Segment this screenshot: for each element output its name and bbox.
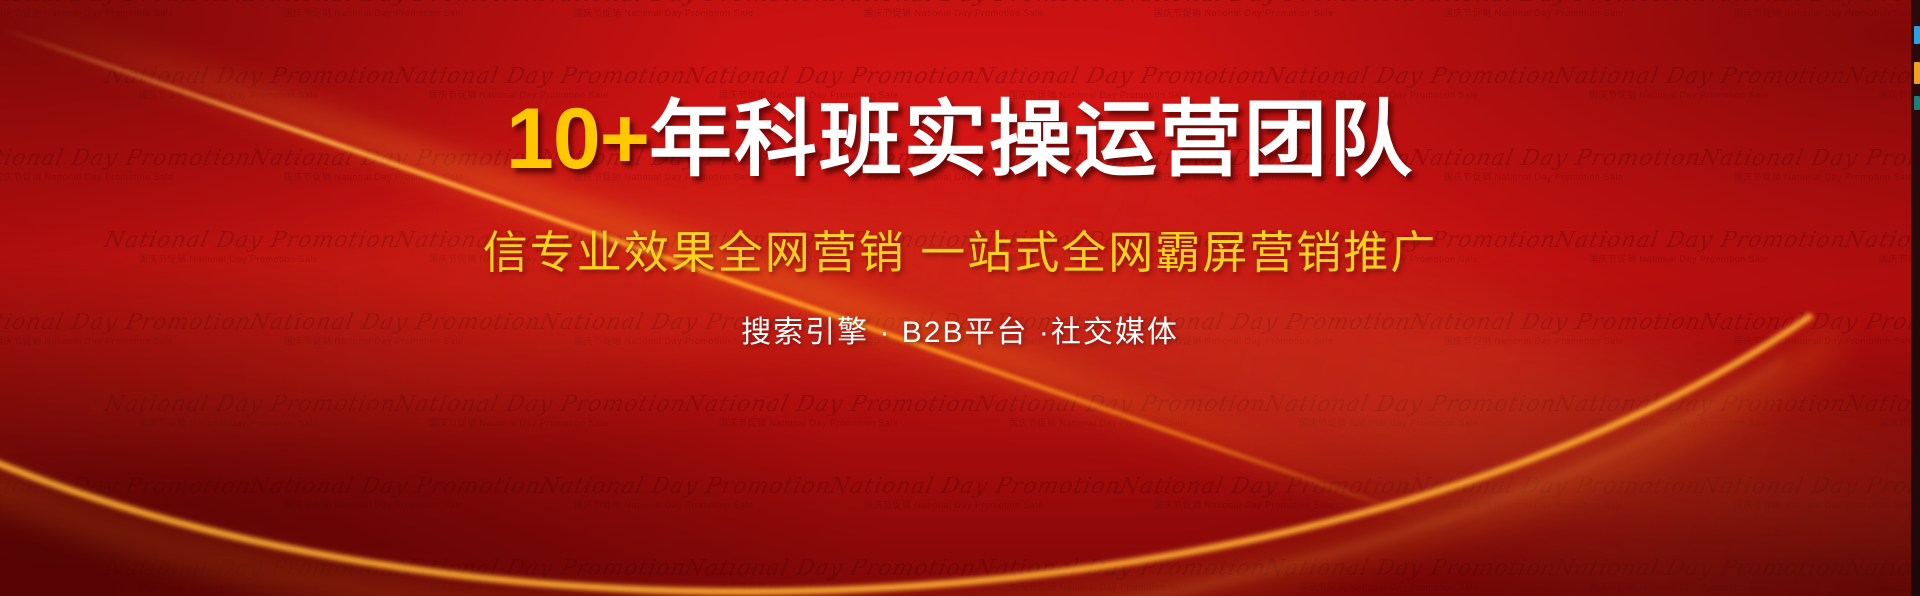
watermark-tile: National Day Promotion国庆节促销 National Day… (250, 311, 540, 347)
watermark-sub-text: 国庆节促销 National Day Promotion Sale (1555, 255, 1845, 264)
watermark-main-text: National Day Promotion (103, 393, 398, 416)
watermark-tile: National Day Promotion国庆节促销 National Day… (1700, 0, 1920, 19)
headline-text: 年科班实操运营团队 (649, 93, 1414, 186)
watermark-main-text: National Day Promotion (828, 0, 1123, 6)
watermark-tile: National Day Promotion国庆节促销 National Day… (105, 393, 395, 429)
watermark-main-text: National Day Promotion (1408, 475, 1703, 498)
watermark-main-text: National Day Promotion (1118, 0, 1413, 6)
watermark-main-text: National Day Promotion (1263, 393, 1558, 416)
watermark-main-text: National Day Promotion (0, 475, 252, 498)
watermark-tile: National Day Promotion国庆节促销 National Day… (1555, 393, 1845, 429)
watermark-sub-text: 国庆节促销 National Day Promotion Sale (685, 583, 975, 592)
watermark-sub-text: 国庆节促销 National Day Promotion Sale (540, 9, 830, 18)
orange-chip-icon (1914, 62, 1920, 84)
light-sheen-upper (366, 121, 1920, 593)
watermark-sub-text: 国庆节促销 National Day Promotion Sale (395, 419, 685, 428)
watermark-sub-text: 国庆节促销 National Day Promotion Sale (1265, 419, 1555, 428)
watermark-main-text: National Day Promotion (1408, 311, 1703, 334)
watermark-sub-text: 国庆节促销 National Day Promotion Sale (1265, 583, 1555, 592)
watermark-row: National Day Promotion国庆节促销 National Day… (0, 370, 1920, 452)
watermark-sub-text: 国庆节促销 National Day Promotion Sale (395, 583, 685, 592)
watermark-tile: National Day Promotion国庆节促销 National Day… (1845, 229, 1920, 265)
watermark-sub-text: 国庆节促销 National Day Promotion Sale (1845, 583, 1920, 592)
watermark-main-text: National Day Promotion (683, 557, 978, 580)
watermark-tile: National Day Promotion国庆节促销 National Day… (105, 557, 395, 593)
watermark-tile: National Day Promotion国庆节促销 National Day… (1845, 393, 1920, 429)
watermark-main-text: National Day Promotion (1263, 557, 1558, 580)
watermark-row: National Day Promotion国庆节促销 National Day… (0, 534, 1920, 596)
watermark-tile: National Day Promotion国庆节促销 National Day… (0, 311, 250, 347)
watermark-sub-text: 国庆节促销 National Day Promotion Sale (830, 9, 1120, 18)
watermark-main-text: National Day Promotion (393, 557, 688, 580)
watermark-main-text: National Day Promotion (683, 65, 978, 88)
watermark-tile: National Day Promotion国庆节促销 National Day… (830, 475, 1120, 511)
watermark-main-text: National Day Promotion (1698, 147, 1920, 170)
watermark-row: National Day Promotion国庆节促销 National Day… (0, 0, 1920, 42)
banner-headline: 10+年科班实操运营团队 (506, 96, 1414, 182)
arc-streak-glow (0, 0, 1920, 596)
watermark-sub-text: 国庆节促销 National Day Promotion Sale (250, 501, 540, 510)
banner-subtitle: 信专业效果全网营销 一站式全网霸屏营销推广 (483, 216, 1438, 281)
watermark-main-text: National Day Promotion (973, 557, 1268, 580)
watermark-main-text: National Day Promotion (393, 393, 688, 416)
watermark-tile: National Day Promotion国庆节促销 National Day… (1845, 557, 1920, 593)
blue-chip-icon (1914, 26, 1920, 44)
watermark-main-text: National Day Promotion (538, 475, 833, 498)
watermark-sub-text: 国庆节促销 National Day Promotion Sale (1700, 337, 1920, 346)
watermark-tile: National Day Promotion国庆节促销 National Day… (1700, 311, 1920, 347)
watermark-tile: National Day Promotion国庆节促销 National Day… (250, 0, 540, 19)
watermark-main-text: National Day Promotion (1263, 65, 1558, 88)
watermark-sub-text: 国庆节促销 National Day Promotion Sale (0, 173, 250, 182)
watermark-tile: National Day Promotion国庆节促销 National Day… (685, 557, 975, 593)
watermark-sub-text: 国庆节促销 National Day Promotion Sale (1555, 583, 1845, 592)
watermark-tile: National Day Promotion国庆节促销 National Day… (1120, 0, 1410, 19)
watermark-main-text: National Day Promotion (1843, 557, 1920, 580)
watermark-main-text: National Day Promotion (1698, 0, 1920, 6)
watermark-main-text: National Day Promotion (248, 311, 543, 334)
watermark-tile: National Day Promotion国庆节促销 National Day… (1700, 147, 1920, 183)
watermark-main-text: National Day Promotion (103, 229, 398, 252)
watermark-tile: National Day Promotion国庆节促销 National Day… (540, 0, 830, 19)
watermark-sub-text: 国庆节促销 National Day Promotion Sale (1700, 501, 1920, 510)
watermark-main-text: National Day Promotion (1843, 65, 1920, 88)
watermark-sub-text: 国庆节促销 National Day Promotion Sale (1410, 337, 1700, 346)
watermark-main-text: National Day Promotion (0, 0, 252, 6)
watermark-sub-text: 国庆节促销 National Day Promotion Sale (1555, 91, 1845, 100)
arc-light-streak (0, 0, 1920, 596)
watermark-tile: National Day Promotion国庆节促销 National Day… (1555, 229, 1845, 265)
watermark-sub-text: 国庆节促销 National Day Promotion Sale (1410, 173, 1700, 182)
banner-tagline: 搜索引擎 · B2B平台 ·社交媒体 (741, 307, 1179, 351)
watermark-main-text: National Day Promotion (1408, 147, 1703, 170)
watermark-tile: National Day Promotion国庆节促销 National Day… (1410, 0, 1700, 19)
watermark-main-text: National Day Promotion (1843, 393, 1920, 416)
watermark-main-text: National Day Promotion (248, 475, 543, 498)
watermark-sub-text: 国庆节促销 National Day Promotion Sale (250, 9, 540, 18)
watermark-pattern-layer: National Day Promotion国庆节促销 National Day… (0, 0, 1920, 596)
watermark-sub-text: 国庆节促销 National Day Promotion Sale (105, 583, 395, 592)
watermark-sub-text: 国庆节促销 National Day Promotion Sale (540, 501, 830, 510)
watermark-tile: National Day Promotion国庆节促销 National Day… (1700, 475, 1920, 511)
watermark-main-text: National Day Promotion (1698, 311, 1920, 334)
watermark-tile: National Day Promotion国庆节促销 National Day… (1555, 65, 1845, 101)
watermark-row: National Day Promotion国庆节促销 National Day… (0, 452, 1920, 534)
watermark-tile: National Day Promotion国庆节促销 National Day… (1265, 393, 1555, 429)
watermark-sub-text: 国庆节促销 National Day Promotion Sale (1700, 173, 1920, 182)
watermark-sub-text: 国庆节促销 National Day Promotion Sale (1845, 255, 1920, 264)
watermark-main-text: National Day Promotion (393, 65, 688, 88)
banner-content: 10+年科班实操运营团队 信专业效果全网营销 一站式全网霸屏营销推广 搜索引擎 … (0, 0, 1920, 596)
watermark-sub-text: 国庆节促销 National Day Promotion Sale (0, 337, 250, 346)
watermark-main-text: National Day Promotion (1553, 65, 1848, 88)
watermark-sub-text: 国庆节促销 National Day Promotion Sale (105, 419, 395, 428)
watermark-main-text: National Day Promotion (1698, 475, 1920, 498)
watermark-tile: National Day Promotion国庆节促销 National Day… (685, 393, 975, 429)
watermark-tile: National Day Promotion国庆节促销 National Day… (1555, 557, 1845, 593)
watermark-main-text: National Day Promotion (1843, 229, 1920, 252)
watermark-sub-text: 国庆节促销 National Day Promotion Sale (250, 337, 540, 346)
watermark-tile: National Day Promotion国庆节促销 National Day… (1410, 311, 1700, 347)
watermark-sub-text: 国庆节促销 National Day Promotion Sale (830, 501, 1120, 510)
watermark-sub-text: 国庆节促销 National Day Promotion Sale (1555, 419, 1845, 428)
watermark-main-text: National Day Promotion (248, 0, 543, 6)
watermark-main-text: National Day Promotion (1553, 557, 1848, 580)
watermark-sub-text: 国庆节促销 National Day Promotion Sale (1120, 9, 1410, 18)
secondary-arc-streak (0, 0, 1920, 596)
watermark-main-text: National Day Promotion (0, 147, 252, 170)
watermark-main-text: National Day Promotion (1408, 0, 1703, 6)
promotional-banner: National Day Promotion国庆节促销 National Day… (0, 0, 1920, 596)
watermark-main-text: National Day Promotion (683, 393, 978, 416)
watermark-main-text: National Day Promotion (973, 65, 1268, 88)
watermark-sub-text: 国庆节促销 National Day Promotion Sale (105, 255, 395, 264)
watermark-tile: National Day Promotion国庆节促销 National Day… (250, 475, 540, 511)
watermark-tile: National Day Promotion国庆节促销 National Day… (0, 147, 250, 183)
watermark-sub-text: 国庆节促销 National Day Promotion Sale (1410, 9, 1700, 18)
watermark-tile: National Day Promotion国庆节促销 National Day… (540, 475, 830, 511)
watermark-tile: National Day Promotion国庆节促销 National Day… (395, 557, 685, 593)
watermark-sub-text: 国庆节促销 National Day Promotion Sale (1120, 501, 1410, 510)
watermark-tile: National Day Promotion国庆节促销 National Day… (830, 0, 1120, 19)
watermark-main-text: National Day Promotion (1553, 229, 1848, 252)
watermark-sub-text: 国庆节促销 National Day Promotion Sale (1845, 419, 1920, 428)
watermark-tile: National Day Promotion国庆节促销 National Day… (1845, 65, 1920, 101)
watermark-tile: National Day Promotion国庆节促销 National Day… (395, 393, 685, 429)
watermark-main-text: National Day Promotion (103, 557, 398, 580)
watermark-sub-text: 国庆节促销 National Day Promotion Sale (1700, 9, 1920, 18)
watermark-main-text: National Day Promotion (538, 0, 833, 6)
right-edge-sliver[interactable] (1911, 0, 1920, 596)
watermark-tile: National Day Promotion国庆节促销 National Day… (1265, 557, 1555, 593)
watermark-sub-text: 国庆节促销 National Day Promotion Sale (1845, 91, 1920, 100)
headline-number: 10+ (506, 91, 649, 187)
watermark-tile: National Day Promotion国庆节促销 National Day… (0, 475, 250, 511)
watermark-tile: National Day Promotion国庆节促销 National Day… (975, 557, 1265, 593)
watermark-tile: National Day Promotion国庆节促销 National Day… (105, 229, 395, 265)
vignette-overlay (0, 0, 1920, 596)
watermark-main-text: National Day Promotion (1553, 393, 1848, 416)
watermark-sub-text: 国庆节促销 National Day Promotion Sale (975, 583, 1265, 592)
watermark-main-text: National Day Promotion (828, 475, 1123, 498)
watermark-main-text: National Day Promotion (0, 311, 252, 334)
teal-chip-icon (1914, 96, 1920, 110)
watermark-sub-text: 国庆节促销 National Day Promotion Sale (0, 501, 250, 510)
watermark-tile: National Day Promotion国庆节促销 National Day… (1410, 147, 1700, 183)
watermark-sub-text: 国庆节促销 National Day Promotion Sale (685, 419, 975, 428)
